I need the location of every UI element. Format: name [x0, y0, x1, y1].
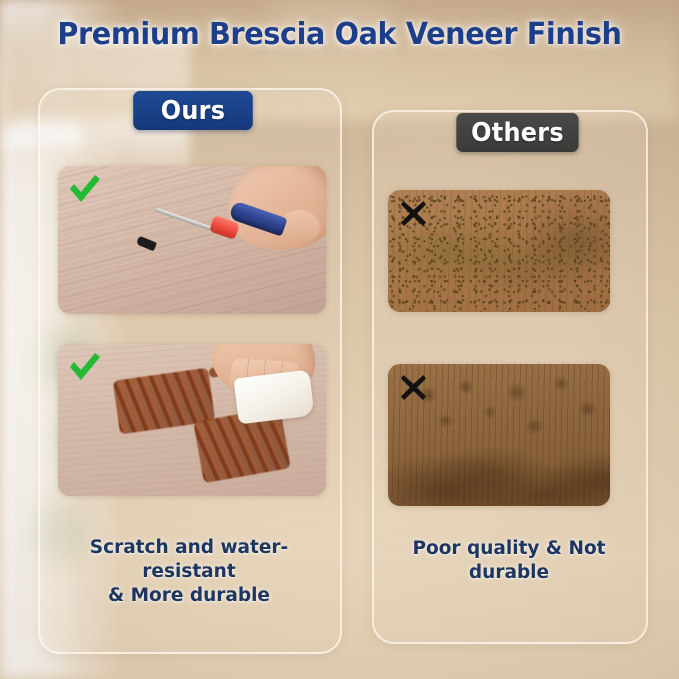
napkin: [233, 370, 314, 425]
comparison-infographic: Premium Brescia Oak Veneer Finish Ours S…: [0, 0, 679, 679]
caption-ours-line1: Scratch and water-resistant: [90, 537, 288, 582]
black-x-icon: [400, 200, 427, 227]
water-stain-flood: [388, 426, 610, 506]
caption-others: Poor quality & Not durable: [374, 537, 644, 585]
page-title: Premium Brescia Oak Veneer Finish: [20, 17, 658, 52]
badge-others: Others: [456, 113, 578, 152]
green-check-icon: [68, 352, 102, 382]
badge-ours: Ours: [133, 91, 253, 130]
spill-wipe-photo: [58, 344, 326, 496]
water-stained-photo: [388, 364, 610, 506]
caption-ours: Scratch and water-resistant & More durab…: [44, 536, 334, 608]
caption-ours-line2: & More durable: [44, 584, 334, 608]
moldy-surface-photo: [388, 190, 610, 312]
scratch-test-photo: [58, 166, 326, 314]
black-x-icon: [400, 374, 427, 401]
green-check-icon: [68, 174, 102, 204]
